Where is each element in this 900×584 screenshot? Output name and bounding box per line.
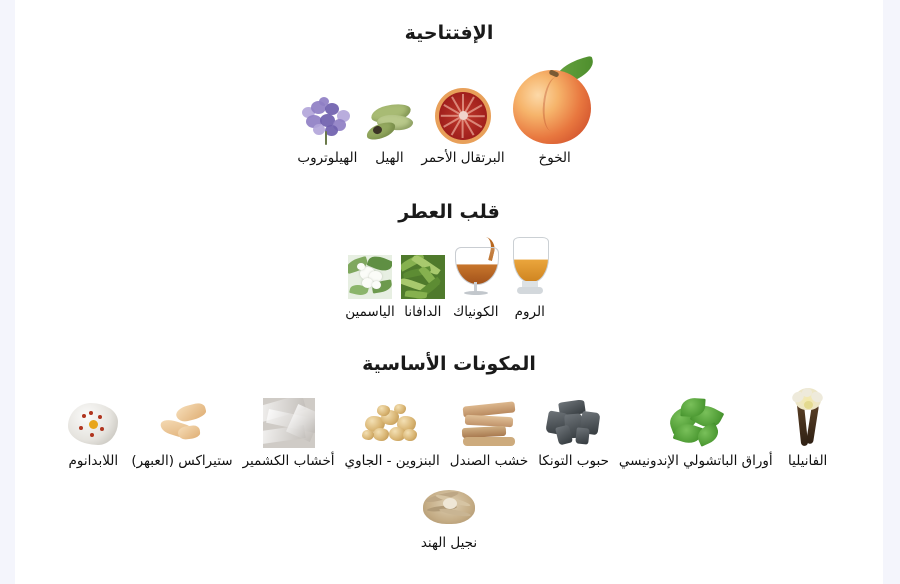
section-title-base-notes: المكونات الأساسية [15,353,883,376]
notes-row-base: اللابدانوم ستيراكس (العبهر) [15,388,883,470]
notes-row-top: الهيلوتروب الهيل [15,59,883,167]
note-image-cognac [451,237,501,299]
note-image-rum [507,235,553,299]
vetiver-image [421,484,477,530]
note-label-vanilla: الفانيليا [788,453,827,470]
note-item-vanilla[interactable]: الفانيليا [783,388,833,470]
sandalwood-image [458,400,520,448]
note-image-patchouli-leaves [667,398,725,448]
note-image-tonka-beans [543,400,605,448]
note-label-benzoin: البنزوين - الجاوي [345,453,440,470]
styrax-image [154,400,210,448]
note-image-labdanum [65,400,121,448]
section-top-notes: الإفتتاحية [15,22,883,167]
cashmere-woods-image [263,398,315,448]
notes-row-base-overflow: نجيل الهند [15,484,883,552]
note-image-peach [509,59,601,145]
section-title-heart-notes: قلب العطر [15,201,883,224]
section-base-notes: المكونات الأساسية اللابدانو [15,353,883,552]
note-item-jasmine[interactable]: الياسمين [345,255,395,321]
rum-glass-image [507,235,553,299]
note-item-rum[interactable]: الروم [507,235,553,321]
tonka-beans-image [543,400,605,448]
blood-orange-image [434,87,492,145]
note-item-vetiver[interactable]: نجيل الهند [421,484,477,552]
jasmine-image [348,255,392,299]
note-item-tonka-beans[interactable]: حبوب التونكا [538,400,609,470]
note-label-blood-orange: البرتقال الأحمر [421,150,504,167]
note-image-styrax [154,400,210,448]
note-image-vanilla [783,388,833,448]
note-label-peach: الخوخ [539,150,571,167]
note-label-rum: الروم [515,304,545,321]
note-label-vetiver: نجيل الهند [421,535,477,552]
notes-row-heart: الياسمين الدافانا [15,235,883,321]
note-image-blood-orange [434,87,492,145]
note-image-jasmine [348,255,392,299]
note-item-heliotrope[interactable]: الهيلوتروب [297,93,357,167]
note-label-sandalwood: خشب الصندل [450,453,528,470]
note-label-heliotrope: الهيلوتروب [297,150,357,167]
section-title-top-notes: الإفتتاحية [15,22,883,45]
note-item-patchouli-leaves[interactable]: أوراق الباتشولي الإندونيسي [619,398,773,470]
note-image-sandalwood [458,400,520,448]
note-label-styrax: ستيراكس (العبهر) [131,453,232,470]
note-label-cognac: الكونياك [453,304,498,321]
benzoin-java-image [361,400,423,448]
note-label-jasmine: الياسمين [345,304,395,321]
note-item-davana[interactable]: الدافانا [401,255,445,321]
note-item-cardamom[interactable]: الهيل [361,97,417,167]
note-item-cognac[interactable]: الكونياك [451,237,501,321]
heliotrope-image [298,93,356,145]
note-image-cashmere-woods [263,398,315,448]
note-image-cardamom [361,97,417,145]
note-label-patchouli-leaves: أوراق الباتشولي الإندونيسي [619,453,773,470]
note-item-cashmere-woods[interactable]: أخشاب الكشمير [243,398,335,470]
section-heart-notes: قلب العطر اليا [15,201,883,322]
patchouli-leaves-image [667,398,725,448]
note-item-styrax[interactable]: ستيراكس (العبهر) [131,400,232,470]
note-image-davana [401,255,445,299]
right-edge-strip [883,0,900,584]
cognac-glass-image [451,237,501,299]
vanilla-image [783,388,833,448]
perfume-notes-page: الإفتتاحية [15,0,883,584]
note-label-labdanum: اللابدانوم [69,453,119,470]
note-item-peach[interactable]: الخوخ [509,59,601,167]
note-label-tonka-beans: حبوب التونكا [538,453,609,470]
davana-image [401,255,445,299]
note-image-heliotrope [298,93,356,145]
note-item-labdanum[interactable]: اللابدانوم [65,400,121,470]
labdanum-image [65,400,121,448]
note-image-benzoin [361,400,423,448]
note-label-davana: الدافانا [404,304,441,321]
left-edge-strip [0,0,15,584]
peach-image [509,59,601,145]
note-label-cardamom: الهيل [375,150,403,167]
note-item-benzoin[interactable]: البنزوين - الجاوي [345,400,440,470]
note-item-sandalwood[interactable]: خشب الصندل [450,400,528,470]
cardamom-image [361,97,417,145]
note-label-cashmere-woods: أخشاب الكشمير [243,453,335,470]
note-item-blood-orange[interactable]: البرتقال الأحمر [421,87,504,167]
note-image-vetiver [421,484,477,530]
